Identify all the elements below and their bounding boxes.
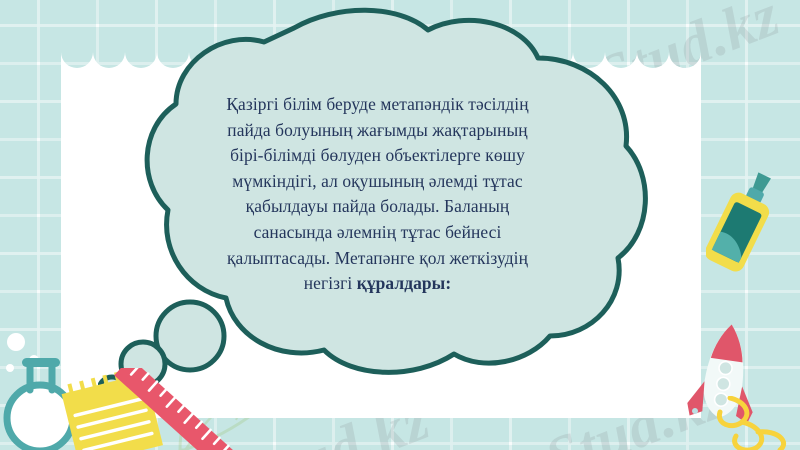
body-line: бірі-білімді бөлуден объектілерге көшу (150, 143, 605, 169)
body-line: Қазіргі білім беруде метапәндік тәсілдің (150, 92, 605, 118)
glue-bottle-icon (706, 166, 776, 282)
body-line: пайда болуының жағымды жақтарының (150, 118, 605, 144)
slide-body-text: Қазіргі білім беруде метапәндік тәсілдің… (150, 92, 605, 297)
body-line: қалыптасады. Метапәнге қол жеткізудің (150, 246, 605, 272)
body-line-final: негізгі құралдары: (150, 271, 605, 297)
body-line-final-bold: құралдары: (357, 273, 452, 293)
body-line-final-regular: негізгі (304, 273, 357, 293)
body-line: санасында әлемнің тұтас бейнесі (150, 220, 605, 246)
swirl-icon (712, 396, 798, 450)
sparkle-dot-icon (692, 408, 698, 414)
ruler-icon (110, 368, 240, 450)
slide-canvas: Stud.kz Stud.kz Stud.kz Stud.kz Stud.kz … (0, 0, 800, 450)
body-line: мүмкіндігі, ал оқушының әлемді тұтас (150, 169, 605, 195)
body-line: қабылдауы пайда болады. Баланың (150, 194, 605, 220)
